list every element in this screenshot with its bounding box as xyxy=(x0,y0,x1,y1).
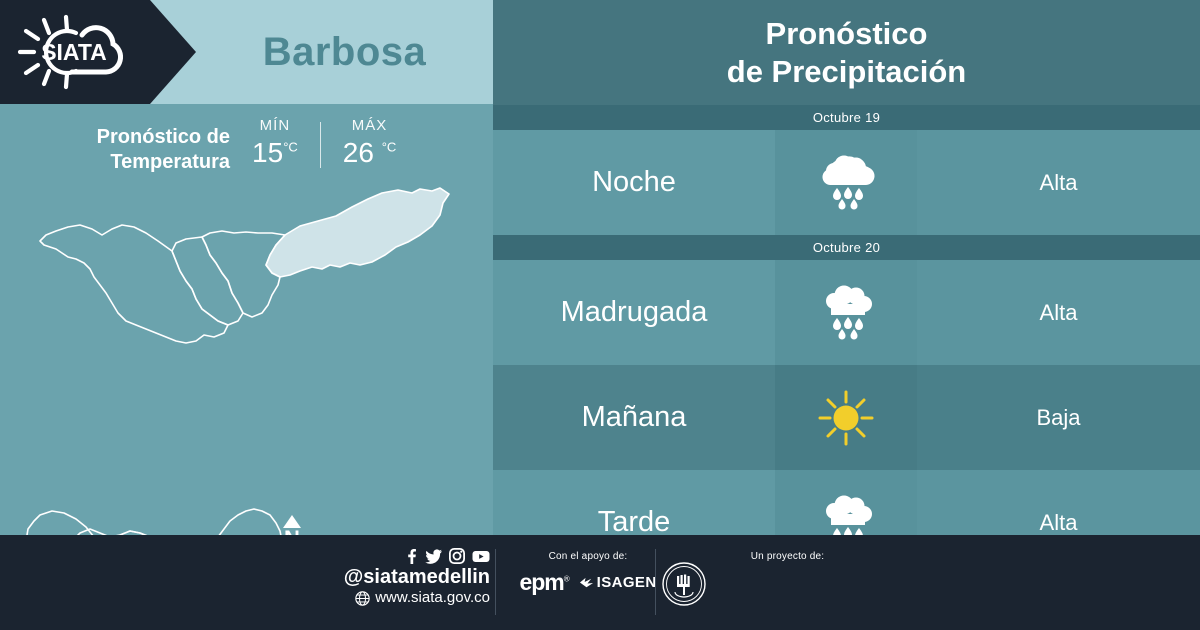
epm-logo[interactable]: epm® xyxy=(519,571,568,594)
temperature-divider xyxy=(320,122,321,168)
social-handle[interactable]: @siatamedellin xyxy=(305,566,490,589)
map-svg xyxy=(0,185,493,535)
left-panel: SIATA Barbosa Pronóstico de Temperatura … xyxy=(0,0,493,535)
isagen-logo[interactable]: ISAGEN xyxy=(579,574,657,591)
temperature-forecast: Pronóstico de Temperatura MÍN 15°C MÁX 2… xyxy=(0,118,493,188)
probability-label: Baja xyxy=(917,365,1200,470)
period-label: Mañana xyxy=(493,365,775,470)
map-region-girardota xyxy=(202,231,285,317)
epm-label: epm xyxy=(519,569,563,595)
website-row[interactable]: www.siata.gov.co xyxy=(305,589,490,607)
support-block: Con el apoyo de: epm® ISAGEN xyxy=(508,551,668,594)
footer-divider-2 xyxy=(655,549,656,615)
project-caption: Un proyecto de: xyxy=(700,551,875,562)
page-title: Barbosa xyxy=(196,0,493,104)
max-label: MÁX xyxy=(343,118,397,133)
sun-cloud-icon: SIATA xyxy=(14,14,136,90)
rain-cloud-icon xyxy=(775,130,917,235)
isagen-icon xyxy=(579,575,594,590)
temperature-max: MÁX 26 °C xyxy=(343,118,397,167)
facebook-icon[interactable] xyxy=(404,548,418,564)
forecast-row-manana[interactable]: Mañana Baja xyxy=(493,365,1200,470)
sponsor-logos: epm® ISAGEN xyxy=(508,571,668,594)
temperature-title: Pronóstico de Temperatura xyxy=(97,118,230,175)
social-block: @siatamedellin www.siata.gov.co xyxy=(305,548,490,607)
project-block: Un proyecto de: xyxy=(700,551,875,571)
footer-divider-1 xyxy=(495,549,496,615)
date-band-1: Octubre 19 xyxy=(493,105,1200,130)
max-value-wrap: 26 °C xyxy=(343,139,397,167)
website-url: www.siata.gov.co xyxy=(375,589,490,607)
date-band-2: Octubre 20 xyxy=(493,235,1200,260)
min-value-wrap: 15°C xyxy=(252,139,298,167)
youtube-icon[interactable] xyxy=(472,548,490,564)
period-label: Noche xyxy=(493,130,775,235)
min-unit: °C xyxy=(283,140,298,155)
forecast-row-noche[interactable]: Noche Alta xyxy=(493,130,1200,235)
region-map[interactable]: N xyxy=(0,185,493,535)
map-region-barbosa xyxy=(266,188,449,277)
rain-cloud-icon xyxy=(775,260,917,365)
epm-mark: ® xyxy=(564,574,569,583)
map-region-la-estrella xyxy=(26,511,98,535)
max-value: 26 xyxy=(343,137,374,168)
map-region-medellin xyxy=(48,509,282,535)
globe-icon xyxy=(355,591,370,606)
forecast-title: Pronóstico de Precipitación xyxy=(493,0,1200,105)
isagen-label: ISAGEN xyxy=(597,574,657,591)
forecast-row-madrugada[interactable]: Madrugada Alta xyxy=(493,260,1200,365)
sun-icon xyxy=(775,365,917,470)
min-label: MÍN xyxy=(252,118,298,133)
period-label: Madrugada xyxy=(493,260,775,365)
max-unit: °C xyxy=(382,140,397,155)
probability-label: Alta xyxy=(917,130,1200,235)
logo-text: SIATA xyxy=(41,39,107,65)
probability-label: Alta xyxy=(917,260,1200,365)
map-region-copacabana xyxy=(172,237,243,325)
min-value: 15 xyxy=(252,137,283,168)
footer: @siatamedellin www.siata.gov.co Con el a… xyxy=(0,535,1200,630)
precipitation-panel: Pronóstico de Precipitación Octubre 19 N… xyxy=(493,0,1200,535)
twitter-icon[interactable] xyxy=(425,548,442,564)
social-icons xyxy=(305,548,490,564)
temperature-min: MÍN 15°C xyxy=(252,118,298,167)
map-region-bello xyxy=(40,225,228,343)
weather-forecast-infographic: SIATA Barbosa Pronóstico de Temperatura … xyxy=(0,0,1200,630)
left-header: SIATA Barbosa xyxy=(0,0,493,104)
siata-logo-badge[interactable]: SIATA xyxy=(0,0,196,104)
support-caption: Con el apoyo de: xyxy=(508,551,668,562)
instagram-icon[interactable] xyxy=(449,548,465,564)
